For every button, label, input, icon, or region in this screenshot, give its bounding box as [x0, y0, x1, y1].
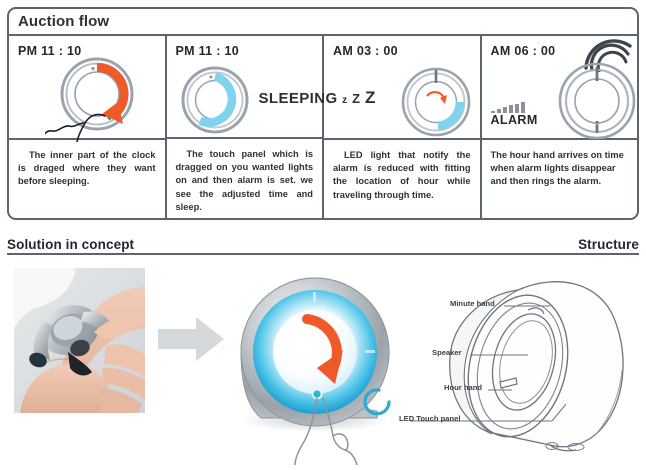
section-headers: Solution in concept Structure — [7, 233, 639, 255]
sleeping-z-small: z — [342, 95, 347, 106]
clock-dial-blue-set — [177, 62, 257, 138]
sleeping-overlay-text: SLEEPING z Z Z — [259, 88, 376, 108]
alarm-label: ALARM — [491, 114, 538, 127]
sleeping-z-large: Z — [365, 88, 376, 107]
clock-dial-led-traveling — [396, 62, 480, 140]
flow-step-2: PM 11 : 10 SLEEPING z Z Z The touch pane… — [167, 36, 325, 218]
flow-step-3-time: AM 03 : 00 — [333, 44, 398, 58]
sleeping-word: SLEEPING — [259, 90, 338, 107]
sleeping-z-medium: Z — [352, 91, 360, 106]
structure-section-title: Structure — [578, 238, 639, 254]
flow-step-4-caption: The hour hand arrives on time when alarm… — [482, 140, 638, 218]
clock-dial-ringing — [554, 58, 640, 140]
flow-step-4: AM 06 : 00 — [482, 36, 638, 218]
flow-step-3-caption: LED light that notify the alarm is reduc… — [324, 140, 480, 218]
flow-step-2-illustration: PM 11 : 10 SLEEPING z Z Z — [167, 36, 323, 139]
auction-flow-columns: PM 11 : 10 — [9, 36, 637, 218]
auction-flow-panel: Auction flow PM 11 : 10 — [7, 7, 639, 220]
solution-section-title: Solution in concept — [7, 238, 134, 254]
structure-label-speaker: Speaker — [432, 349, 462, 357]
flow-step-1-caption: The inner part of the clock is draged wh… — [9, 140, 165, 218]
alarm-level-bars — [491, 102, 538, 113]
structure-label-minute-hand: Minute hand — [450, 300, 495, 308]
auction-flow-title-bar: Auction flow — [9, 9, 637, 36]
flow-step-4-illustration: AM 06 : 00 — [482, 36, 638, 140]
wrist-watch-photo — [14, 268, 145, 413]
flow-step-1-illustration: PM 11 : 10 — [9, 36, 165, 140]
auction-flow-title: Auction flow — [9, 14, 109, 29]
flow-step-3: AM 03 : 00 LED light that notify the ala… — [324, 36, 482, 218]
flow-step-1: PM 11 : 10 — [9, 36, 167, 218]
alarm-indicator: ALARM — [491, 102, 538, 127]
structure-diagram: Minute hand Speaker Hour hand LED Touch … — [400, 262, 646, 465]
process-arrow-icon — [158, 315, 224, 363]
flow-step-2-caption: The touch panel which is dragged on you … — [167, 139, 323, 218]
flow-step-2-time: PM 11 : 10 — [176, 44, 239, 58]
flow-step-4-time: AM 06 : 00 — [491, 44, 556, 58]
product-render — [231, 272, 406, 465]
clock-dial-orange-drag — [45, 54, 155, 142]
structure-label-led-touch-panel: LED Touch panel — [399, 415, 460, 423]
structure-label-hour-hand: Hour hand — [444, 384, 482, 392]
